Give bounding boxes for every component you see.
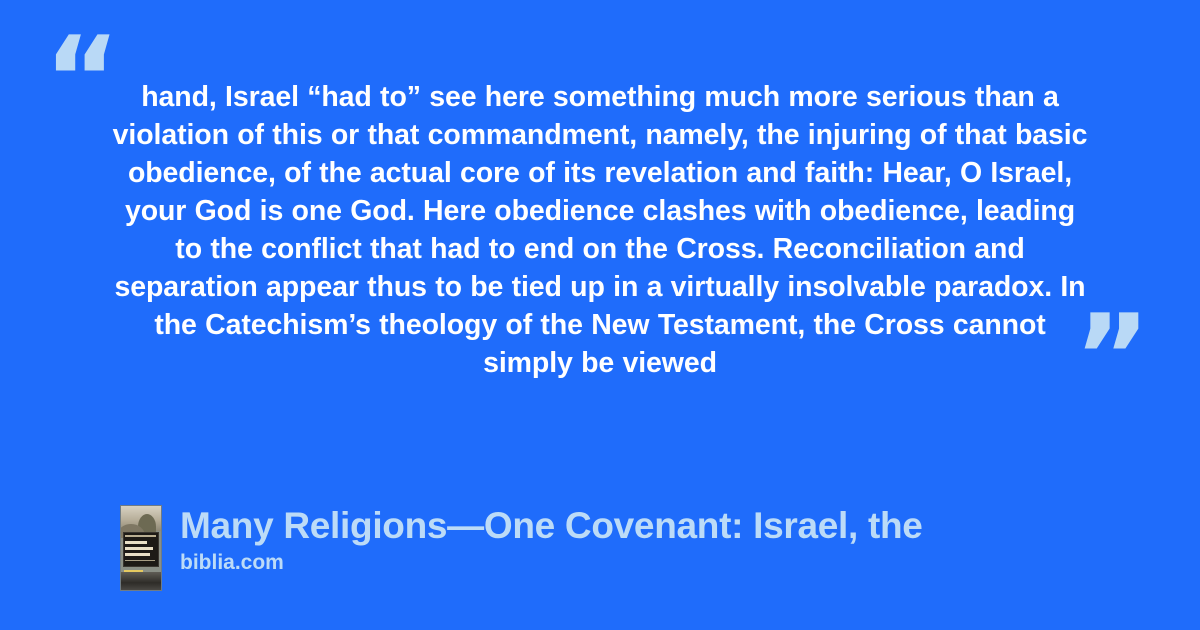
open-quote-icon: “ xyxy=(44,22,120,138)
footer: Many Religions—One Covenant: Israel, the… xyxy=(120,505,923,591)
thumbnail-title-line xyxy=(125,553,150,556)
quote-text: hand, Israel “had to” see here something… xyxy=(110,78,1090,382)
thumbnail-title-line xyxy=(125,560,155,562)
source-title: Many Religions—One Covenant: Israel, the xyxy=(180,505,923,547)
thumbnail-ground xyxy=(121,572,161,590)
thumbnail-title-line xyxy=(125,547,153,550)
close-quote-icon: ” xyxy=(1074,300,1150,416)
quote-block: hand, Israel “had to” see here something… xyxy=(110,78,1090,382)
thumbnail-title-line xyxy=(125,535,156,537)
source-url: biblia.com xyxy=(180,550,923,575)
book-cover-thumbnail xyxy=(120,505,162,591)
thumbnail-title-line xyxy=(125,541,147,544)
footer-text: Many Religions—One Covenant: Israel, the… xyxy=(180,505,923,575)
quote-card: “ hand, Israel “had to” see here somethi… xyxy=(0,0,1200,630)
